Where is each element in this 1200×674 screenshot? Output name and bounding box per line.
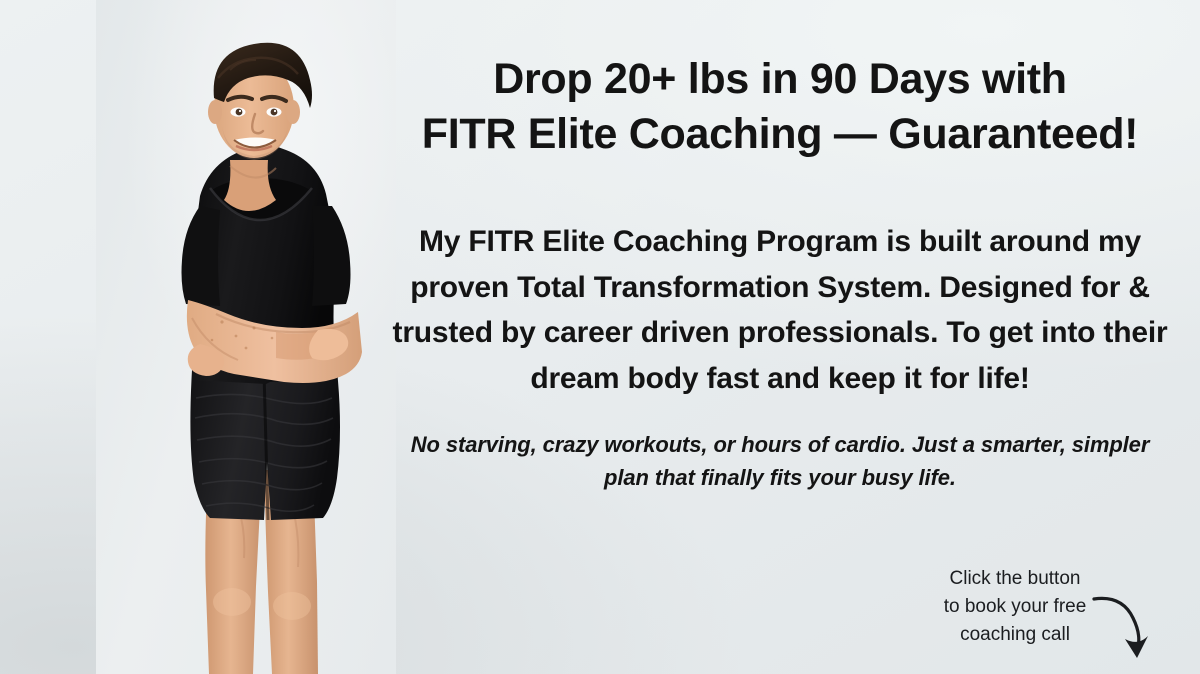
- headline-line-1: Drop 20+ lbs in 90 Days with: [493, 55, 1067, 103]
- body-paragraph: My FITR Elite Coaching Program is built …: [380, 219, 1180, 401]
- cta-hint: Click the button to book your free coach…: [915, 565, 1115, 649]
- cta-hint-line-3: coaching call: [915, 621, 1115, 649]
- coach-portrait: [96, 0, 396, 674]
- cta-hint-line-2: to book your free: [915, 593, 1115, 621]
- headline: Drop 20+ lbs in 90 Days with FITR Elite …: [370, 52, 1190, 162]
- promo-banner: Drop 20+ lbs in 90 Days with FITR Elite …: [0, 0, 1200, 674]
- banner-content: Drop 20+ lbs in 90 Days with FITR Elite …: [370, 0, 1190, 674]
- coach-figure-illustration: [96, 0, 396, 674]
- subnote-text: No starving, crazy workouts, or hours of…: [390, 428, 1170, 495]
- cta-hint-line-1: Click the button: [915, 565, 1115, 593]
- headline-line-2: FITR Elite Coaching — Guaranteed!: [422, 110, 1138, 158]
- curved-down-arrow-icon: [1092, 586, 1162, 666]
